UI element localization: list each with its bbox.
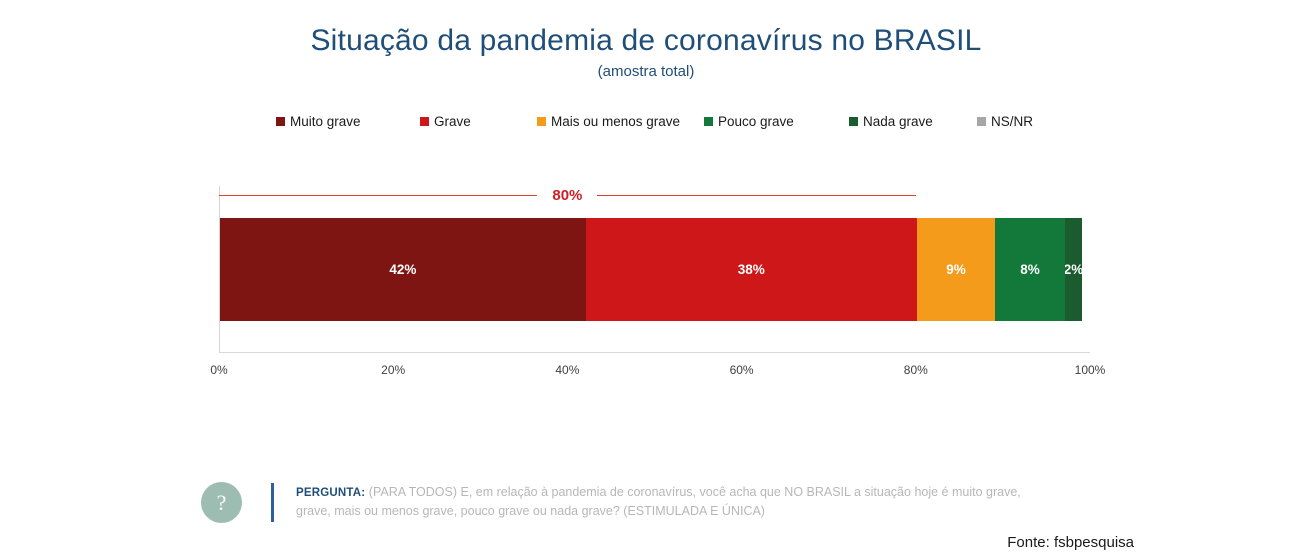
legend-swatch-icon xyxy=(420,117,429,126)
source-label: Fonte: fsbpesquisa xyxy=(1007,534,1134,551)
annotation-80-percent: 80% xyxy=(219,186,916,206)
page-subtitle: (amostra total) xyxy=(0,63,1292,80)
legend-item-mais-ou-menos-grave[interactable]: Mais ou menos grave xyxy=(537,114,704,129)
legend-swatch-icon xyxy=(276,117,285,126)
question-label: PERGUNTA: xyxy=(296,487,365,499)
legend-label: Mais ou menos grave xyxy=(551,114,680,129)
bar-value-label: 42% xyxy=(389,262,416,277)
x-tick-label: 80% xyxy=(904,363,928,377)
x-axis-tick-labels: 0% 20% 40% 60% 80% 100% xyxy=(219,363,1090,381)
legend-item-muito-grave[interactable]: Muito grave xyxy=(276,114,420,129)
bar-segment-nada-grave[interactable]: 2% xyxy=(1065,218,1082,321)
bar-value-label: 38% xyxy=(738,262,765,277)
legend-swatch-icon xyxy=(977,117,986,126)
question-text: PERGUNTA: (PARA TODOS) E, em relação à p… xyxy=(296,483,1036,520)
legend-item-ns-nr[interactable]: NS/NR xyxy=(977,114,1057,129)
annotation-label: 80% xyxy=(537,186,597,205)
stacked-bar: 42% 38% 9% 8% 2% xyxy=(220,218,1091,321)
annotation-line-right xyxy=(597,195,915,196)
chart-legend: Muito grave Grave Mais ou menos grave Po… xyxy=(276,114,1086,129)
legend-label: NS/NR xyxy=(991,114,1033,129)
legend-item-pouco-grave[interactable]: Pouco grave xyxy=(704,114,849,129)
page-title: Situação da pandemia de coronavírus no B… xyxy=(0,24,1292,58)
bar-segment-grave[interactable]: 38% xyxy=(586,218,917,321)
legend-label: Grave xyxy=(434,114,471,129)
legend-swatch-icon xyxy=(537,117,546,126)
bar-value-label: 8% xyxy=(1020,262,1040,277)
legend-label: Pouco grave xyxy=(718,114,794,129)
legend-label: Nada grave xyxy=(863,114,933,129)
chart-plot-area: 80% 42% 38% 9% 8% 2% xyxy=(219,186,1090,353)
x-tick-label: 100% xyxy=(1075,363,1106,377)
question-mark-icon: ? xyxy=(201,482,242,523)
x-tick-label: 20% xyxy=(381,363,405,377)
footnote-divider xyxy=(271,483,274,522)
legend-label: Muito grave xyxy=(290,114,361,129)
question-body: (PARA TODOS) E, em relação à pandemia de… xyxy=(296,485,1021,518)
legend-item-grave[interactable]: Grave xyxy=(420,114,537,129)
x-axis-line xyxy=(219,352,1090,353)
bar-segment-muito-grave[interactable]: 42% xyxy=(220,218,586,321)
bar-segment-mais-ou-menos-grave[interactable]: 9% xyxy=(917,218,995,321)
x-tick-label: 0% xyxy=(210,363,227,377)
annotation-line-left xyxy=(219,195,537,196)
legend-item-nada-grave[interactable]: Nada grave xyxy=(849,114,977,129)
x-tick-label: 40% xyxy=(555,363,579,377)
footnote: ? PERGUNTA: (PARA TODOS) E, em relação à… xyxy=(200,478,1070,530)
legend-swatch-icon xyxy=(704,117,713,126)
bar-segment-pouco-grave[interactable]: 8% xyxy=(995,218,1065,321)
bar-value-label: 9% xyxy=(946,262,966,277)
legend-swatch-icon xyxy=(849,117,858,126)
bar-value-label: 2% xyxy=(1065,262,1082,277)
x-tick-label: 60% xyxy=(730,363,754,377)
